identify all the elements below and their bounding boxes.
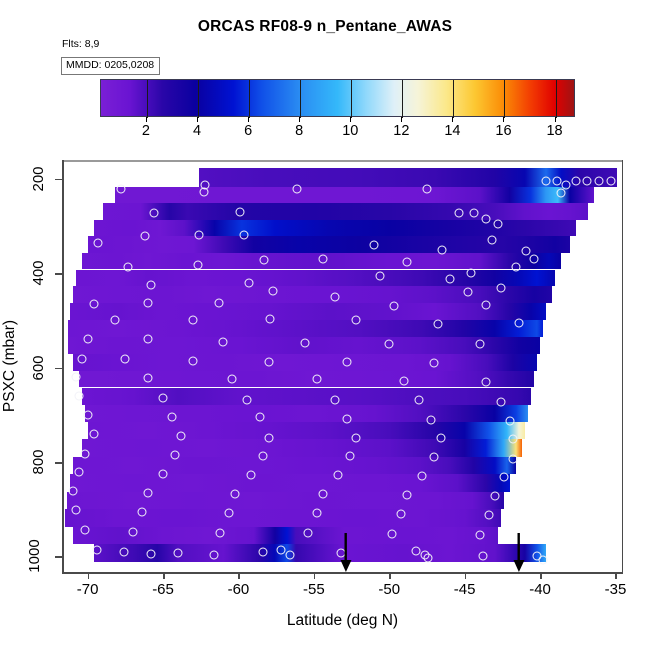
x-tick [314, 572, 316, 579]
x-tick-label: -65 [152, 581, 174, 598]
heatmap-band [82, 388, 531, 406]
x-tick-label: -55 [303, 581, 325, 598]
sample-marker [557, 189, 566, 198]
sample-marker [92, 545, 101, 554]
sample-marker [240, 230, 249, 239]
sample-marker [388, 529, 397, 538]
sample-marker [499, 473, 508, 482]
sample-marker [422, 184, 431, 193]
sample-marker [352, 316, 361, 325]
sample-marker [189, 316, 198, 325]
colorbar-tick-label: 12 [393, 123, 409, 139]
colorbar-tick-label: 8 [295, 123, 303, 139]
sample-marker [94, 239, 103, 248]
sample-marker [231, 490, 240, 499]
sample-marker [168, 413, 177, 422]
colorbar-tick [198, 80, 199, 118]
sample-marker [174, 549, 183, 558]
colorbar-tick [351, 80, 352, 118]
colorbar-tick-mark [350, 117, 351, 122]
sample-marker [505, 416, 514, 425]
sample-marker [403, 491, 412, 500]
plot-area: 2004006008001000 -70-65-60-55-50-45-40-3… [62, 160, 623, 573]
sample-marker [83, 335, 92, 344]
colorbar-tick [556, 80, 557, 118]
colorbar-tick-label: 16 [495, 123, 511, 139]
x-tick-label: -40 [529, 581, 551, 598]
sample-marker [389, 302, 398, 311]
sample-marker [478, 551, 487, 560]
y-tick [55, 368, 62, 370]
sample-marker [193, 260, 202, 269]
sample-marker [330, 292, 339, 301]
colorbar-tick-mark [452, 117, 453, 122]
sample-marker [71, 373, 80, 382]
x-axis-title: Latitude (deg N) [287, 612, 398, 630]
sample-marker [245, 278, 254, 287]
y-tick-label: 800 [30, 450, 47, 475]
sample-marker [243, 395, 252, 404]
y-tick [55, 462, 62, 464]
sample-marker [199, 188, 208, 197]
y-tick [55, 179, 62, 181]
sample-marker [397, 510, 406, 519]
sample-marker [490, 492, 499, 501]
sample-marker [582, 177, 591, 186]
sample-marker [146, 281, 155, 290]
heatmap-band [88, 422, 525, 439]
heatmap-band [73, 354, 537, 371]
sample-marker [493, 220, 502, 229]
sample-marker [219, 337, 228, 346]
y-tick [55, 273, 62, 275]
x-tick-label: -35 [605, 581, 627, 598]
heatmap-band [70, 474, 510, 492]
sample-marker [508, 454, 517, 463]
page-title: ORCAS RF08-9 n_Pentane_AWAS [0, 18, 650, 36]
sample-marker [572, 177, 581, 186]
colorbar-tick-mark [248, 117, 249, 122]
sample-marker [469, 208, 478, 217]
sample-marker [285, 550, 294, 559]
sample-marker [475, 340, 484, 349]
sample-marker [140, 232, 149, 241]
sample-marker [481, 377, 490, 386]
sample-marker [258, 452, 267, 461]
sample-marker [264, 433, 273, 442]
sample-marker [333, 471, 342, 480]
sample-marker [264, 358, 273, 367]
sample-marker [424, 554, 433, 563]
sample-marker [487, 236, 496, 245]
x-tick [615, 572, 617, 579]
colorbar-tick-label: 4 [193, 123, 201, 139]
sample-marker [496, 284, 505, 293]
sample-marker [210, 550, 219, 559]
sample-marker [606, 177, 615, 186]
colorbar-tick-mark [401, 117, 402, 122]
sample-marker [385, 340, 394, 349]
sample-marker [522, 246, 531, 255]
sample-marker [433, 320, 442, 329]
sample-marker [258, 547, 267, 556]
sample-marker [266, 314, 275, 323]
sample-marker [235, 207, 244, 216]
axis-left [62, 160, 64, 573]
colorbar-tick [453, 80, 454, 118]
sample-marker [68, 487, 77, 496]
sample-marker [137, 508, 146, 517]
sample-marker [143, 335, 152, 344]
sample-marker [71, 506, 80, 515]
sample-marker [74, 392, 83, 401]
colorbar-tick-label: 6 [244, 123, 252, 139]
sample-marker [143, 298, 152, 307]
sample-marker [430, 358, 439, 367]
x-tick-label: -45 [454, 581, 476, 598]
sample-marker [143, 374, 152, 383]
x-tick-label: -70 [77, 581, 99, 598]
sample-marker [119, 547, 128, 556]
colorbar-tick-mark [503, 117, 504, 122]
x-tick [88, 572, 90, 579]
sample-marker [427, 415, 436, 424]
colorbar: 24681012141618 [100, 79, 575, 117]
sample-marker [343, 414, 352, 423]
sample-marker [552, 177, 561, 186]
sample-marker [403, 257, 412, 266]
heatmap-band [70, 303, 547, 320]
sample-marker [412, 546, 421, 555]
x-tick-label: -50 [378, 581, 400, 598]
sample-marker [225, 509, 234, 518]
sample-marker [481, 301, 490, 310]
sample-marker [514, 318, 523, 327]
colorbar-tick [402, 80, 403, 118]
sample-marker [300, 339, 309, 348]
sample-marker [312, 509, 321, 518]
sample-marker [171, 451, 180, 460]
heatmap-data [62, 160, 623, 573]
sample-marker [418, 472, 427, 481]
colorbar-tick-mark [555, 117, 556, 122]
colorbar-tick-label: 2 [142, 123, 150, 139]
heatmap-band [103, 203, 589, 220]
mmdd-annotation: MMDD: 0205,0208 [61, 57, 160, 75]
y-tick-label: 600 [30, 355, 47, 380]
sample-marker [80, 449, 89, 458]
sample-marker [216, 528, 225, 537]
sample-marker [445, 274, 454, 283]
colorbar-tick [504, 80, 505, 118]
sample-marker [80, 526, 89, 535]
sample-marker [89, 429, 98, 438]
sample-marker [159, 470, 168, 479]
sample-marker [146, 550, 155, 559]
axis-right [622, 160, 624, 573]
sample-marker [246, 471, 255, 480]
sample-marker [484, 510, 493, 519]
sample-marker [475, 530, 484, 539]
y-tick-label: 400 [30, 261, 47, 286]
sample-marker [121, 355, 130, 364]
sample-marker [542, 177, 551, 186]
colorbar-tick [249, 80, 250, 118]
colorbar-tick-mark [299, 117, 300, 122]
plot-canvas: ORCAS RF08-9 n_Pentane_AWAS Flts: 8,9 MM… [0, 0, 650, 650]
colorbar-tick [300, 80, 301, 118]
heatmap-band [65, 509, 501, 527]
sample-marker [539, 556, 548, 565]
sample-marker [466, 269, 475, 278]
sample-marker [74, 468, 83, 477]
x-tick-label: -60 [228, 581, 250, 598]
heatmap-band [68, 320, 543, 337]
sample-marker [530, 255, 539, 264]
colorbar-tick-mark [197, 117, 198, 122]
sample-marker [330, 395, 339, 404]
sample-marker [276, 545, 285, 554]
sample-marker [303, 528, 312, 537]
x-tick [540, 572, 542, 579]
sample-marker [400, 376, 409, 385]
sample-marker [177, 432, 186, 441]
sample-marker [189, 356, 198, 365]
sample-marker [436, 434, 445, 443]
sample-marker [128, 527, 137, 536]
heatmap-band [115, 187, 595, 203]
sample-marker [438, 245, 447, 254]
axis-top [62, 160, 623, 162]
sample-marker [77, 355, 86, 364]
sample-marker [89, 300, 98, 309]
sample-marker [454, 208, 463, 217]
heatmap-band [85, 405, 528, 422]
sample-marker [293, 185, 302, 194]
sample-marker [83, 410, 92, 419]
sample-marker [508, 435, 517, 444]
sample-marker [415, 395, 424, 404]
sample-marker [594, 177, 603, 186]
sample-marker [110, 315, 119, 324]
colorbar-tick-label: 14 [444, 123, 460, 139]
sample-marker [370, 240, 379, 249]
sample-marker [260, 256, 269, 265]
colorbar-tick-label: 18 [546, 123, 562, 139]
sample-marker [463, 288, 472, 297]
sample-marker [376, 271, 385, 280]
colorbar-tick-mark [146, 117, 147, 122]
y-tick [55, 556, 62, 558]
sample-marker [116, 185, 125, 194]
heatmap-band [94, 220, 577, 236]
heatmap-band [88, 236, 571, 252]
sample-marker [511, 262, 520, 271]
x-tick [389, 572, 391, 579]
x-tick [238, 572, 240, 579]
sample-marker [228, 375, 237, 384]
colorbar-tick [147, 80, 148, 118]
sample-marker [346, 452, 355, 461]
sample-marker [124, 262, 133, 271]
sample-marker [318, 490, 327, 499]
heatmap-band [73, 457, 516, 474]
sample-marker [318, 255, 327, 264]
sample-marker [352, 433, 361, 442]
x-tick [465, 572, 467, 579]
sample-marker [159, 394, 168, 403]
heatmap-band [67, 492, 504, 509]
y-axis-title: PSXC (mbar) [1, 320, 19, 412]
sample-marker [312, 375, 321, 384]
sample-marker [143, 489, 152, 498]
flights-annotation: Flts: 8,9 [62, 38, 99, 50]
sample-marker [269, 286, 278, 295]
sample-marker [255, 413, 264, 422]
sample-marker [481, 214, 490, 223]
colorbar-tick-label: 10 [342, 123, 358, 139]
colorbar-gradient [100, 79, 575, 117]
axis-bottom [62, 572, 623, 574]
sample-marker [343, 358, 352, 367]
sample-marker [496, 397, 505, 406]
x-tick [163, 572, 165, 579]
sample-marker [195, 230, 204, 239]
y-tick-label: 1000 [26, 540, 43, 573]
sample-marker [214, 298, 223, 307]
colorbar-gradient-fill [101, 80, 574, 116]
heatmap-band [82, 439, 522, 457]
sample-marker [149, 208, 158, 217]
sample-marker [430, 453, 439, 462]
y-tick-label: 200 [30, 166, 47, 191]
